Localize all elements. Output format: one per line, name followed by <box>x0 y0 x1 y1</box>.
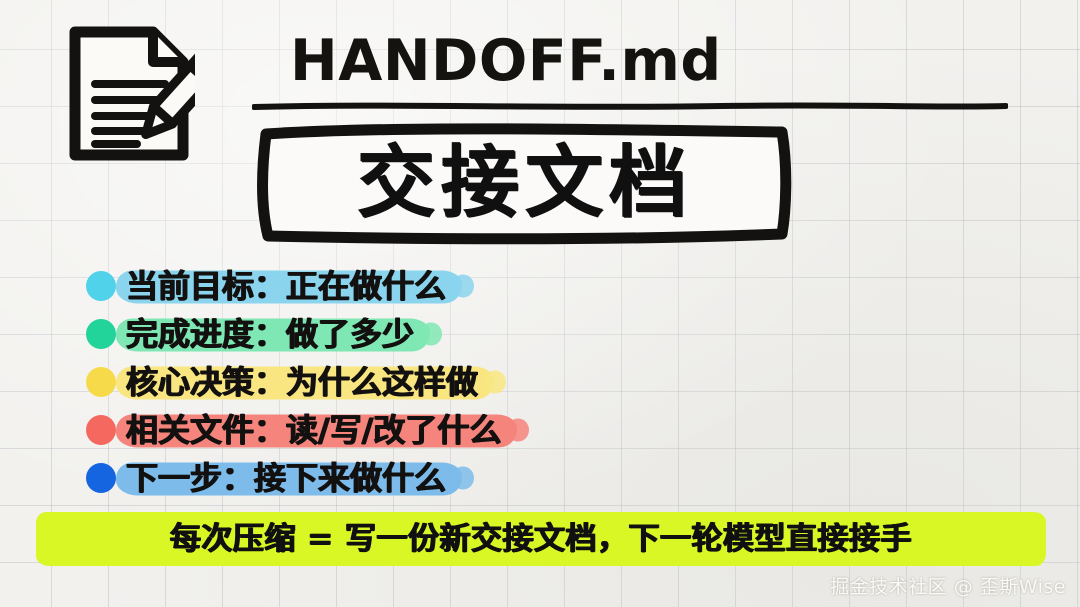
list-item: 下一步：接下来做什么 <box>86 454 1026 502</box>
boxed-title: 交接文档 <box>248 118 802 248</box>
list-item-label: 核心决策：为什么这样做 <box>126 363 478 401</box>
list-item-label: 当前目标：正在做什么 <box>126 267 446 305</box>
page-title: HANDOFF.md <box>290 32 1020 92</box>
list-item: 核心决策：为什么这样做 <box>86 358 1026 406</box>
bullet-dot-icon <box>86 367 116 397</box>
list-item-body: 相关文件：读/写/改了什么 <box>126 414 501 446</box>
bullet-list: 当前目标：正在做什么 完成进度：做了多少 核心决策：为什么这样做 相关文件：读/… <box>86 262 1026 502</box>
list-item-body: 核心决策：为什么这样做 <box>126 366 478 398</box>
title-row: HANDOFF.md <box>290 32 1020 92</box>
watermark: 掘金技术社区 @ 歪斯Wise <box>830 572 1066 599</box>
boxed-title-text: 交接文档 <box>248 144 802 222</box>
bullet-dot-icon <box>86 271 116 301</box>
list-item-body: 当前目标：正在做什么 <box>126 270 446 302</box>
list-item-body: 下一步：接下来做什么 <box>126 462 446 494</box>
list-item: 相关文件：读/写/改了什么 <box>86 406 1026 454</box>
list-item-label: 完成进度：做了多少 <box>126 315 414 353</box>
bullet-dot-icon <box>86 463 116 493</box>
bottom-banner: 每次压缩 = 写一份新交接文档，下一轮模型直接接手 <box>36 512 1046 566</box>
bullet-dot-icon <box>86 415 116 445</box>
list-item-label: 下一步：接下来做什么 <box>126 459 446 497</box>
list-item-body: 完成进度：做了多少 <box>126 318 414 350</box>
bullet-dot-icon <box>86 319 116 349</box>
poster-canvas: HANDOFF.md 交接文档 当前目标：正在做什么 完 <box>0 0 1080 607</box>
bottom-banner-text: 每次压缩 = 写一份新交接文档，下一轮模型直接接手 <box>170 524 912 555</box>
document-with-pencil-icon <box>65 24 195 164</box>
list-item: 当前目标：正在做什么 <box>86 262 1026 310</box>
list-item-label: 相关文件：读/写/改了什么 <box>126 411 501 449</box>
title-underline <box>252 98 1008 107</box>
list-item: 完成进度：做了多少 <box>86 310 1026 358</box>
